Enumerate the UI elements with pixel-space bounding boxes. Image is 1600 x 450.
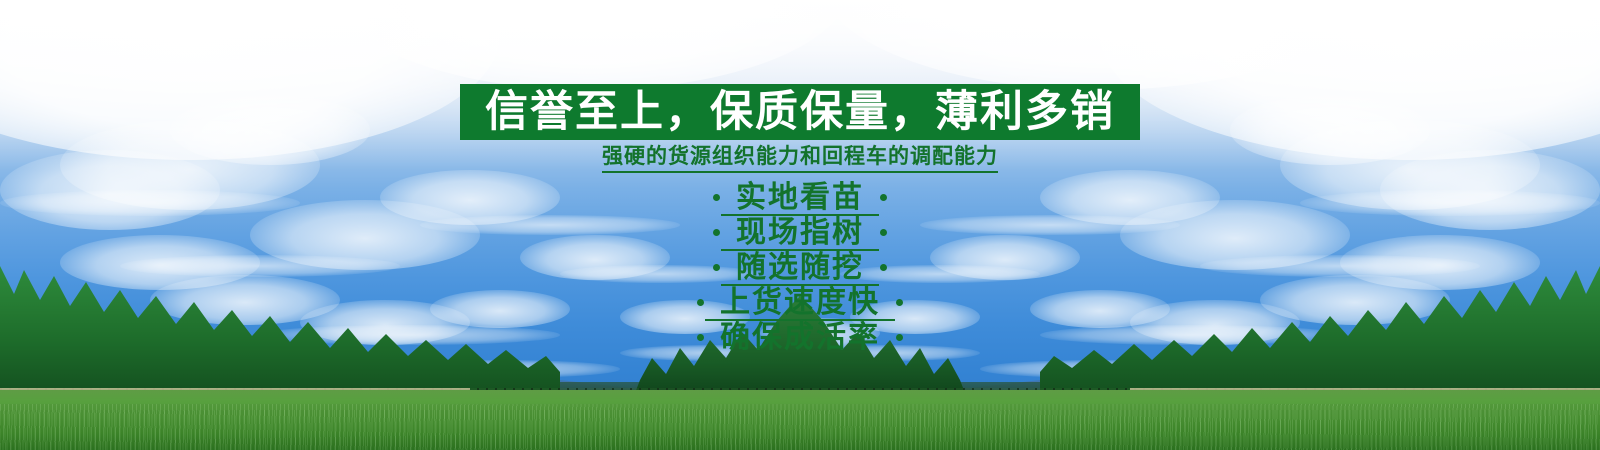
feature-item: 随选随挖 [713, 250, 887, 285]
banner-content: 信誉至上，保质保量，薄利多销 强硬的货源组织能力和回程车的调配能力 实地看苗现场… [0, 0, 1600, 450]
bullet-dot-icon [713, 264, 720, 271]
feature-item: 实地看苗 [713, 180, 887, 215]
subtitle-row: 强硬的货源组织能力和回程车的调配能力 [0, 144, 1600, 173]
bullet-dot-icon [880, 229, 887, 236]
bullet-dot-icon [697, 334, 704, 341]
bullet-dot-icon [713, 229, 720, 236]
bullet-dot-icon [880, 264, 887, 271]
bullet-dot-icon [896, 299, 903, 306]
feature-label: 上货速度快 [720, 288, 880, 318]
promo-banner: 信誉至上，保质保量，薄利多销 强硬的货源组织能力和回程车的调配能力 实地看苗现场… [0, 0, 1600, 450]
bullet-dot-icon [896, 334, 903, 341]
feature-label: 现场指树 [736, 218, 864, 248]
page-title: 信誉至上，保质保量，薄利多销 [485, 91, 1115, 134]
bullet-dot-icon [697, 299, 704, 306]
feature-item: 确保成活率 [697, 320, 903, 355]
feature-item: 现场指树 [713, 215, 887, 250]
feature-list: 实地看苗现场指树随选随挖上货速度快确保成活率 [0, 180, 1600, 355]
bullet-dot-icon [713, 194, 720, 201]
feature-item: 上货速度快 [697, 285, 903, 320]
headline-banner: 信誉至上，保质保量，薄利多销 [460, 84, 1140, 140]
feature-label: 实地看苗 [736, 183, 864, 213]
bullet-dot-icon [880, 194, 887, 201]
feature-label: 确保成活率 [720, 323, 880, 353]
feature-label: 随选随挖 [736, 253, 864, 283]
subtitle-text: 强硬的货源组织能力和回程车的调配能力 [602, 144, 998, 173]
